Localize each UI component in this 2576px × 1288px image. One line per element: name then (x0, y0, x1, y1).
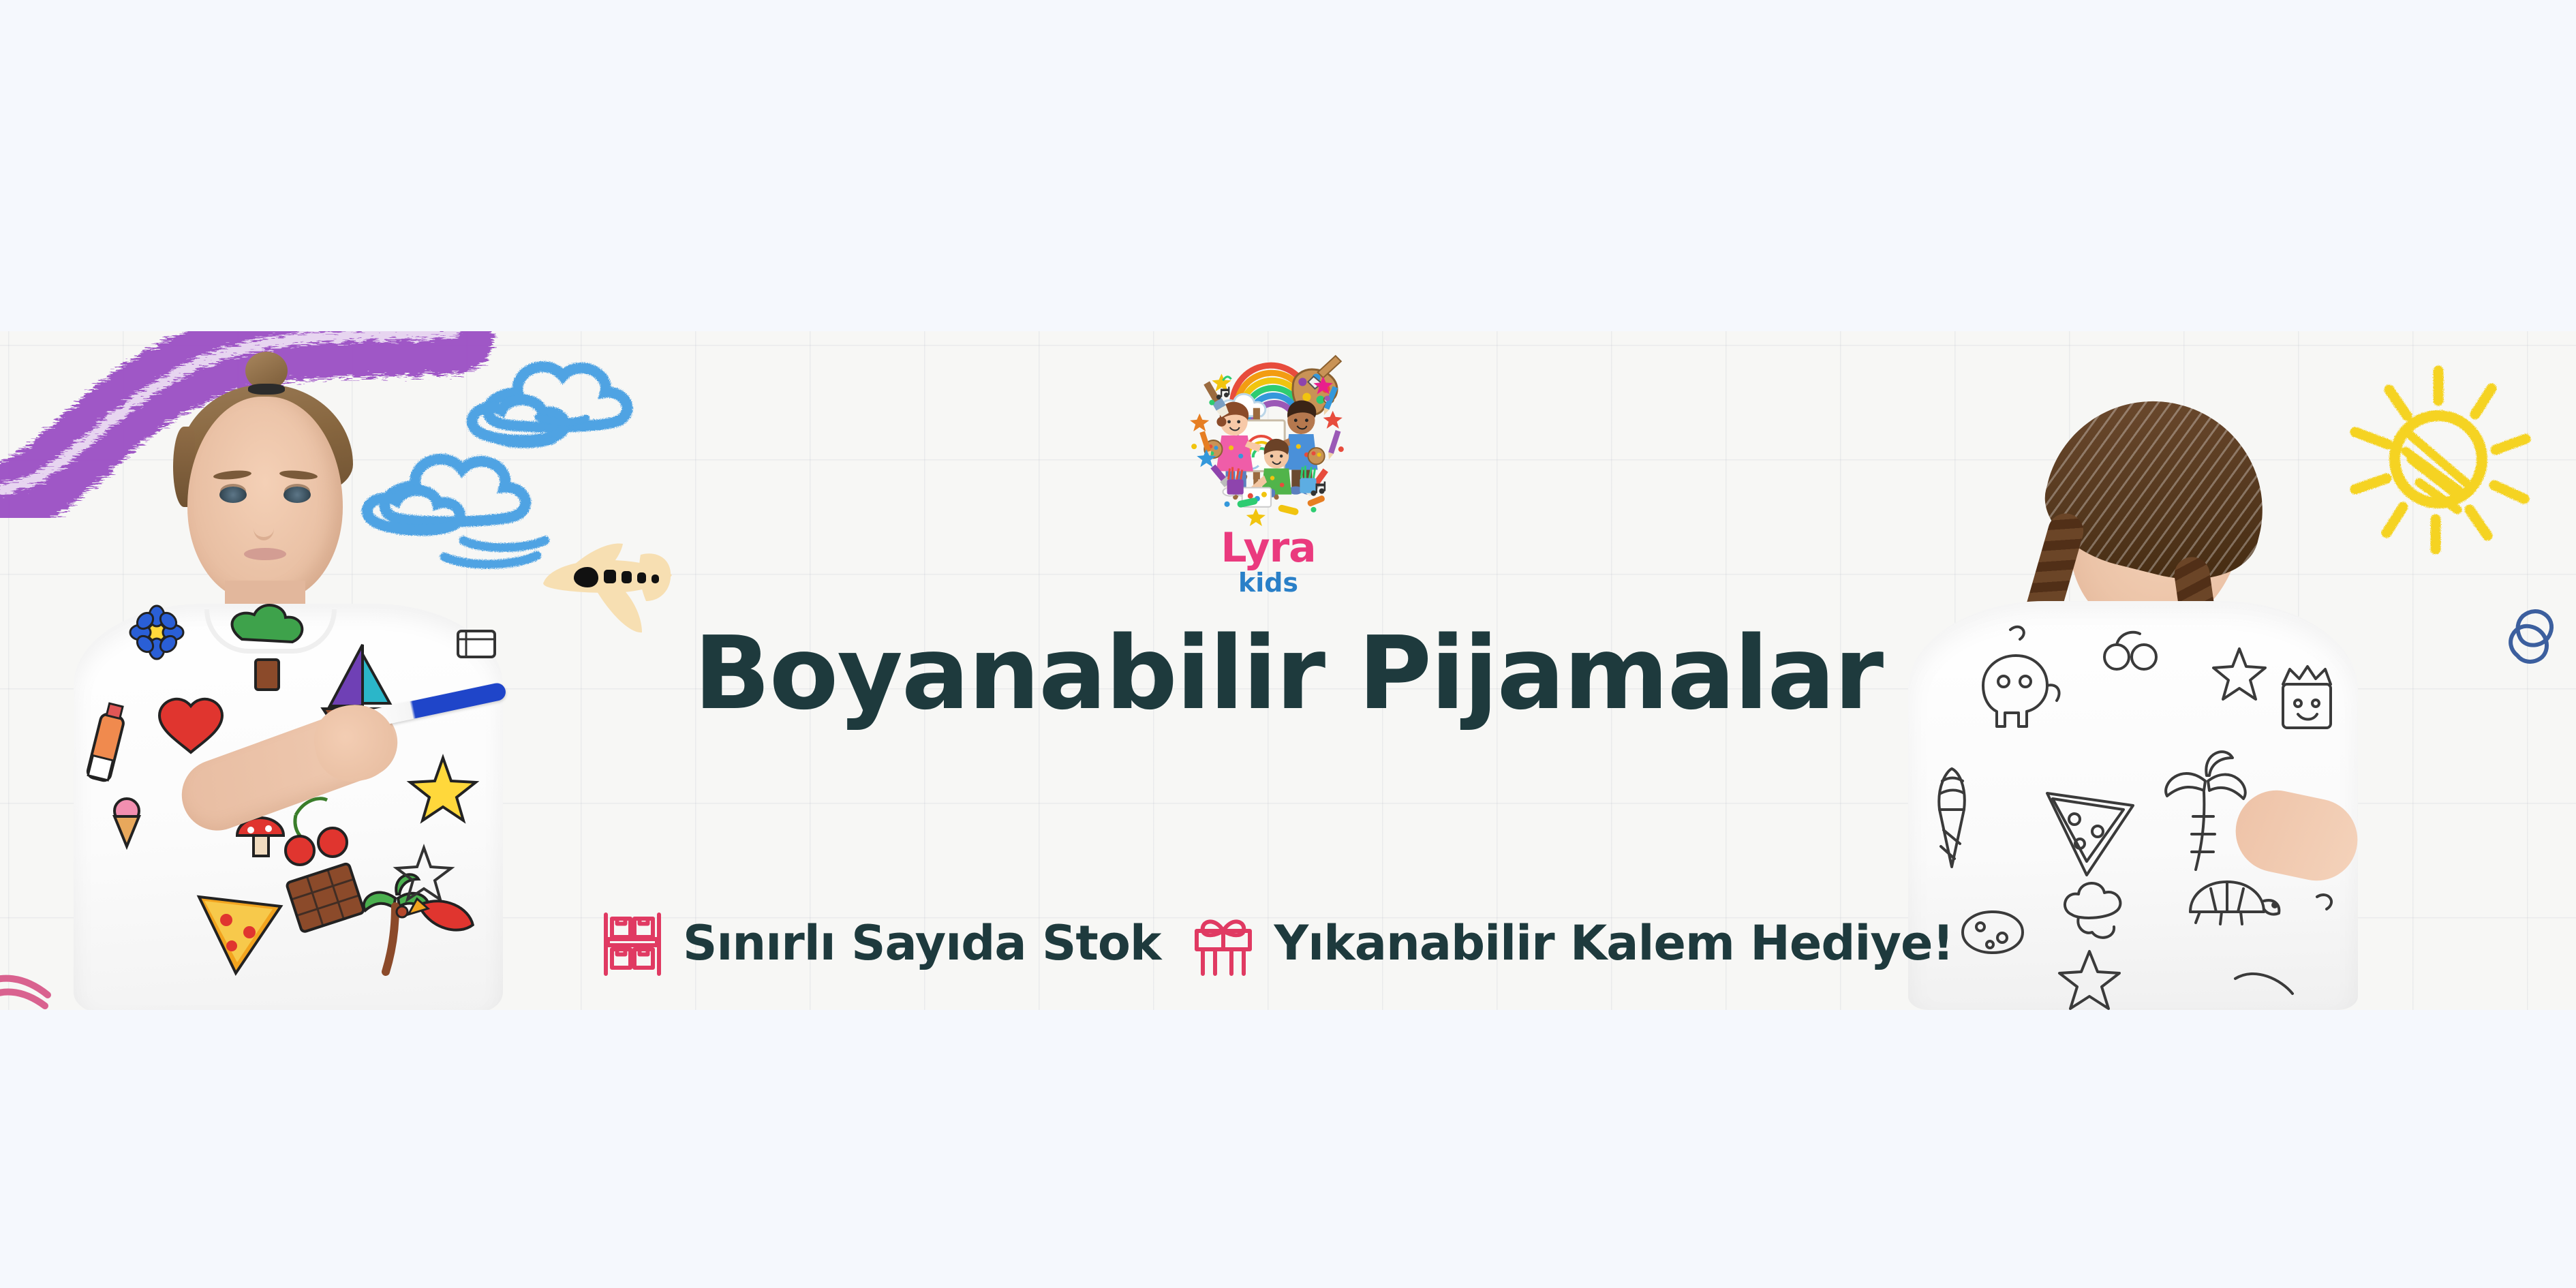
boy-eye-left (219, 487, 247, 503)
boy-face (187, 397, 343, 601)
boy-hair-bun (245, 352, 288, 390)
banner-headline: Boyanabilir Pijamalar (0, 615, 2576, 732)
promo-banner[interactable]: Lyra kids Boyanabilir Pijamalar (0, 331, 2576, 1010)
feature-free-washable-pen-label: Yıkanabilir Kalem Hediye! (1274, 915, 1953, 971)
feature-free-washable-pen: Yıkanabilir Kalem Hediye! (1191, 910, 1953, 976)
feature-limited-stock: Sınırlı Sayıda Stok (600, 910, 1161, 976)
shelf-boxes-icon (600, 910, 665, 976)
pink-scribble-decoration (0, 931, 116, 1010)
gift-box-icon (1191, 910, 1256, 976)
brand-sub-name: kids (1125, 570, 1411, 596)
feature-strip: Sınırlı Sayıda Stok Yıkanabilir Kalem He… (600, 910, 1953, 976)
page-root: Lyra kids Boyanabilir Pijamalar (0, 0, 2576, 1288)
boy-nose (254, 517, 274, 540)
brand-name: Lyra (1125, 527, 1411, 568)
feature-limited-stock-label: Sınırlı Sayıda Stok (683, 915, 1161, 971)
boy-eye-right (283, 487, 311, 503)
kids-painting-circle-icon (1179, 345, 1358, 523)
boy-mouth (244, 548, 286, 560)
brand-logo-block[interactable]: Lyra kids (1125, 345, 1411, 596)
